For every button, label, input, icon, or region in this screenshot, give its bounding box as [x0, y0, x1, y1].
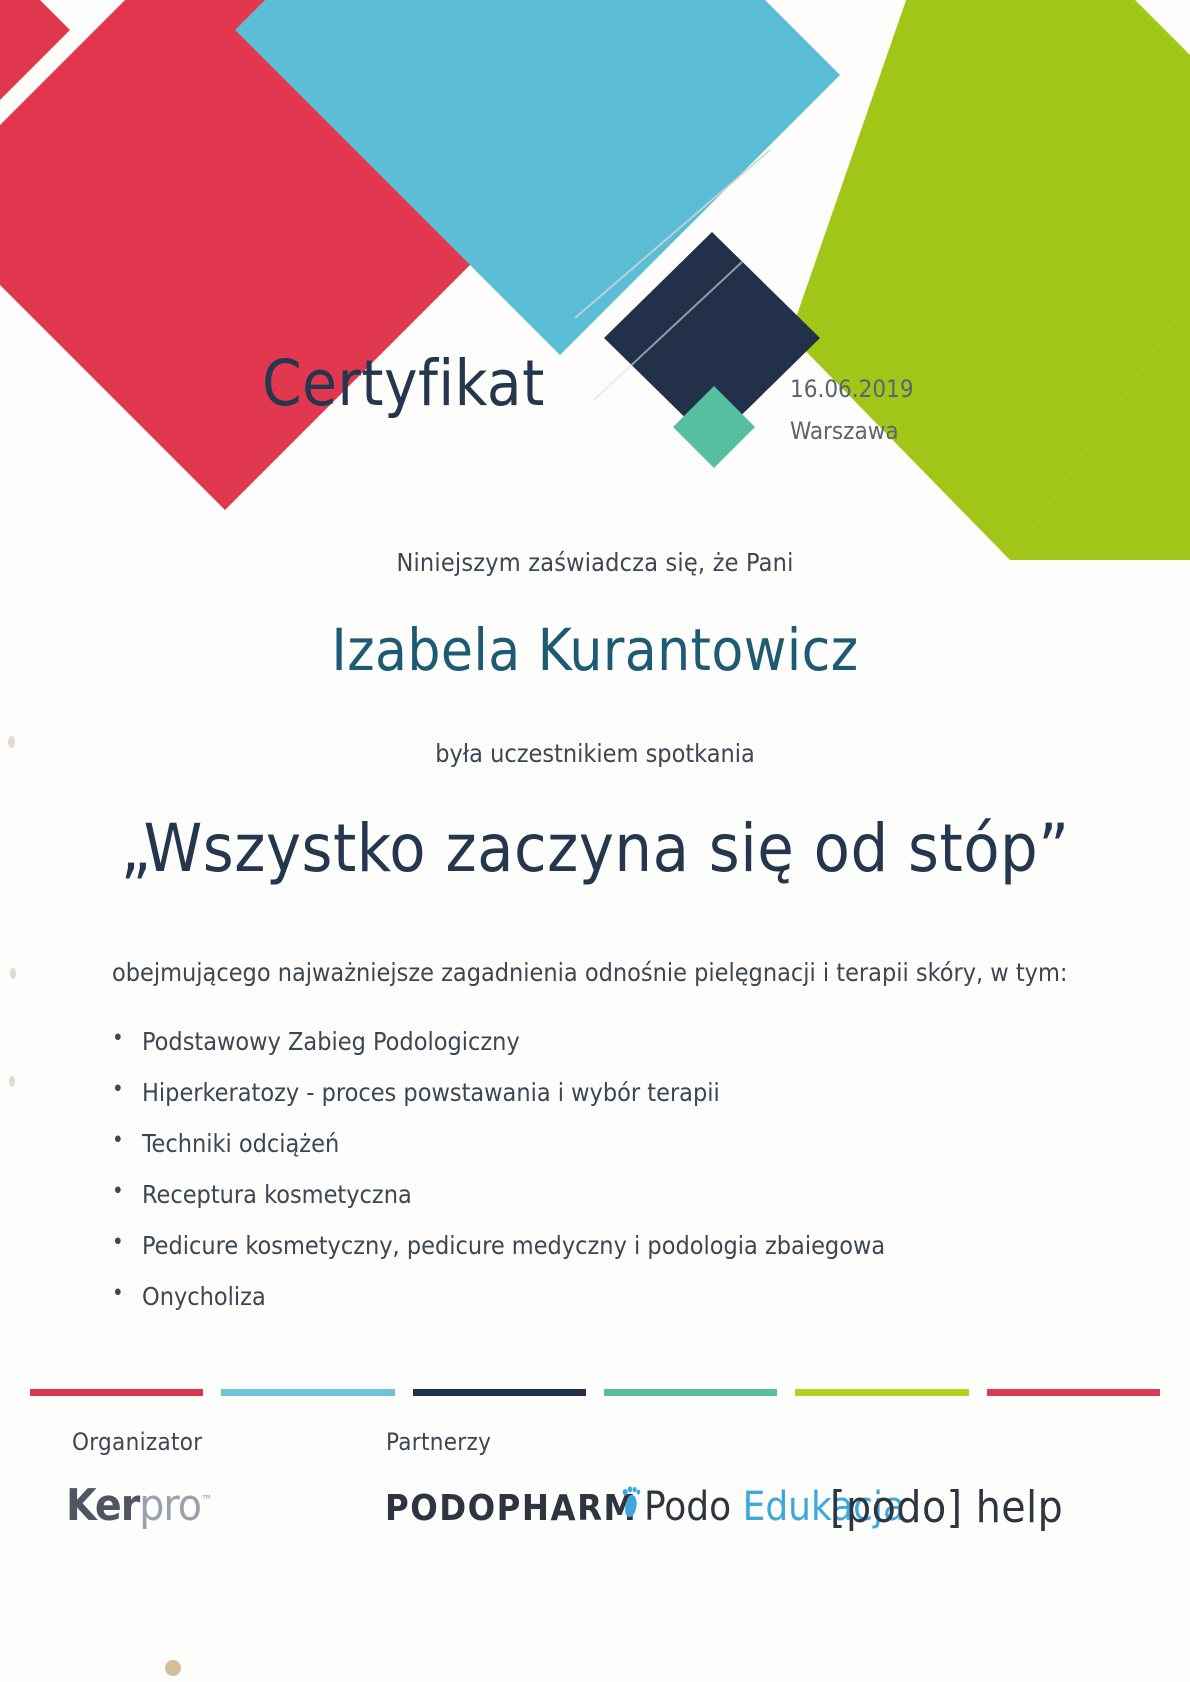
course-description: obejmującego najważniejsze zagadnienia o… — [0, 958, 1190, 987]
list-item: Hiperkeratozy - proces powstawania i wyb… — [112, 1078, 1190, 1107]
participation-text: była uczestnikiem spotkania — [0, 739, 1190, 768]
list-item: Techniki odciążeń — [112, 1129, 1190, 1158]
shape-red-large — [0, 0, 520, 510]
rule-segment-lime — [795, 1389, 968, 1396]
partners-block: Partnerzy — [386, 1428, 491, 1456]
podo-help-accent: help — [976, 1482, 1064, 1533]
shape-cyan-large — [235, 0, 840, 355]
recipient-name: Izabela Kurantowicz — [0, 619, 1190, 683]
certificate-body: Niniejszym zaświadcza się, że Pani Izabe… — [0, 548, 1190, 1333]
partners-label: Partnerzy — [386, 1428, 491, 1456]
shape-lime-extend — [1010, 155, 1190, 560]
bracket-right-icon: ] — [947, 1482, 963, 1533]
shape-lime-large — [790, 0, 1190, 560]
fold-line-1 — [575, 150, 770, 318]
logo-row: Kerpro™ PODOPHARM Podo Edukacja [podo] h… — [0, 1470, 1190, 1560]
bracket-left-icon: [ — [830, 1482, 846, 1533]
topics-list: Podstawowy Zabieg Podologiczny Hiperkera… — [0, 1027, 1190, 1311]
rule-segment-teal — [604, 1389, 777, 1396]
footer-color-rule — [30, 1389, 1160, 1396]
list-item: Receptura kosmetyczna — [112, 1180, 1190, 1209]
rule-segment-cyan — [221, 1389, 394, 1396]
decorative-header-pattern — [0, 0, 1190, 560]
course-title: „Wszystko zaczyna się od stóp” — [0, 812, 1190, 886]
podo-help-logo: [podo] help — [830, 1482, 1063, 1533]
footprint-icon — [620, 1484, 642, 1530]
certificate-page: Certyfikat 16.06.2019 Warszawa Niniejszy… — [0, 0, 1190, 1682]
kerpro-logo: Kerpro™ — [66, 1480, 212, 1531]
podo-help-main: podo — [846, 1482, 947, 1533]
shape-navy-diamond — [604, 232, 820, 444]
certificate-meta: 16.06.2019 Warszawa — [790, 368, 914, 452]
podo-edukacja-main: Podo — [644, 1484, 731, 1530]
lead-text: Niniejszym zaświadcza się, że Pani — [0, 548, 1190, 577]
organizer-label: Organizator — [72, 1428, 202, 1456]
rule-segment-red2 — [987, 1389, 1160, 1396]
kerpro-logo-suffix: pro — [139, 1480, 201, 1531]
page-title: Certyfikat — [262, 352, 545, 415]
shape-red-corner — [0, 0, 70, 120]
organizer-block: Organizator — [72, 1428, 202, 1456]
rule-segment-red — [30, 1389, 203, 1396]
issue-place: Warszawa — [790, 410, 914, 452]
shape-teal-diamond — [673, 386, 755, 468]
fold-line-2 — [594, 262, 742, 400]
list-item: Pedicure kosmetyczny, pedicure medyczny … — [112, 1231, 1190, 1260]
issue-date: 16.06.2019 — [790, 368, 914, 410]
kerpro-logo-prefix: Ker — [66, 1480, 139, 1531]
podopharm-logo: PODOPHARM — [385, 1488, 637, 1529]
rule-segment-navy — [413, 1389, 586, 1396]
list-item: Onycholiza — [112, 1282, 1190, 1311]
kerpro-logo-trademark: ™ — [201, 1493, 212, 1508]
list-item: Podstawowy Zabieg Podologiczny — [112, 1027, 1190, 1056]
